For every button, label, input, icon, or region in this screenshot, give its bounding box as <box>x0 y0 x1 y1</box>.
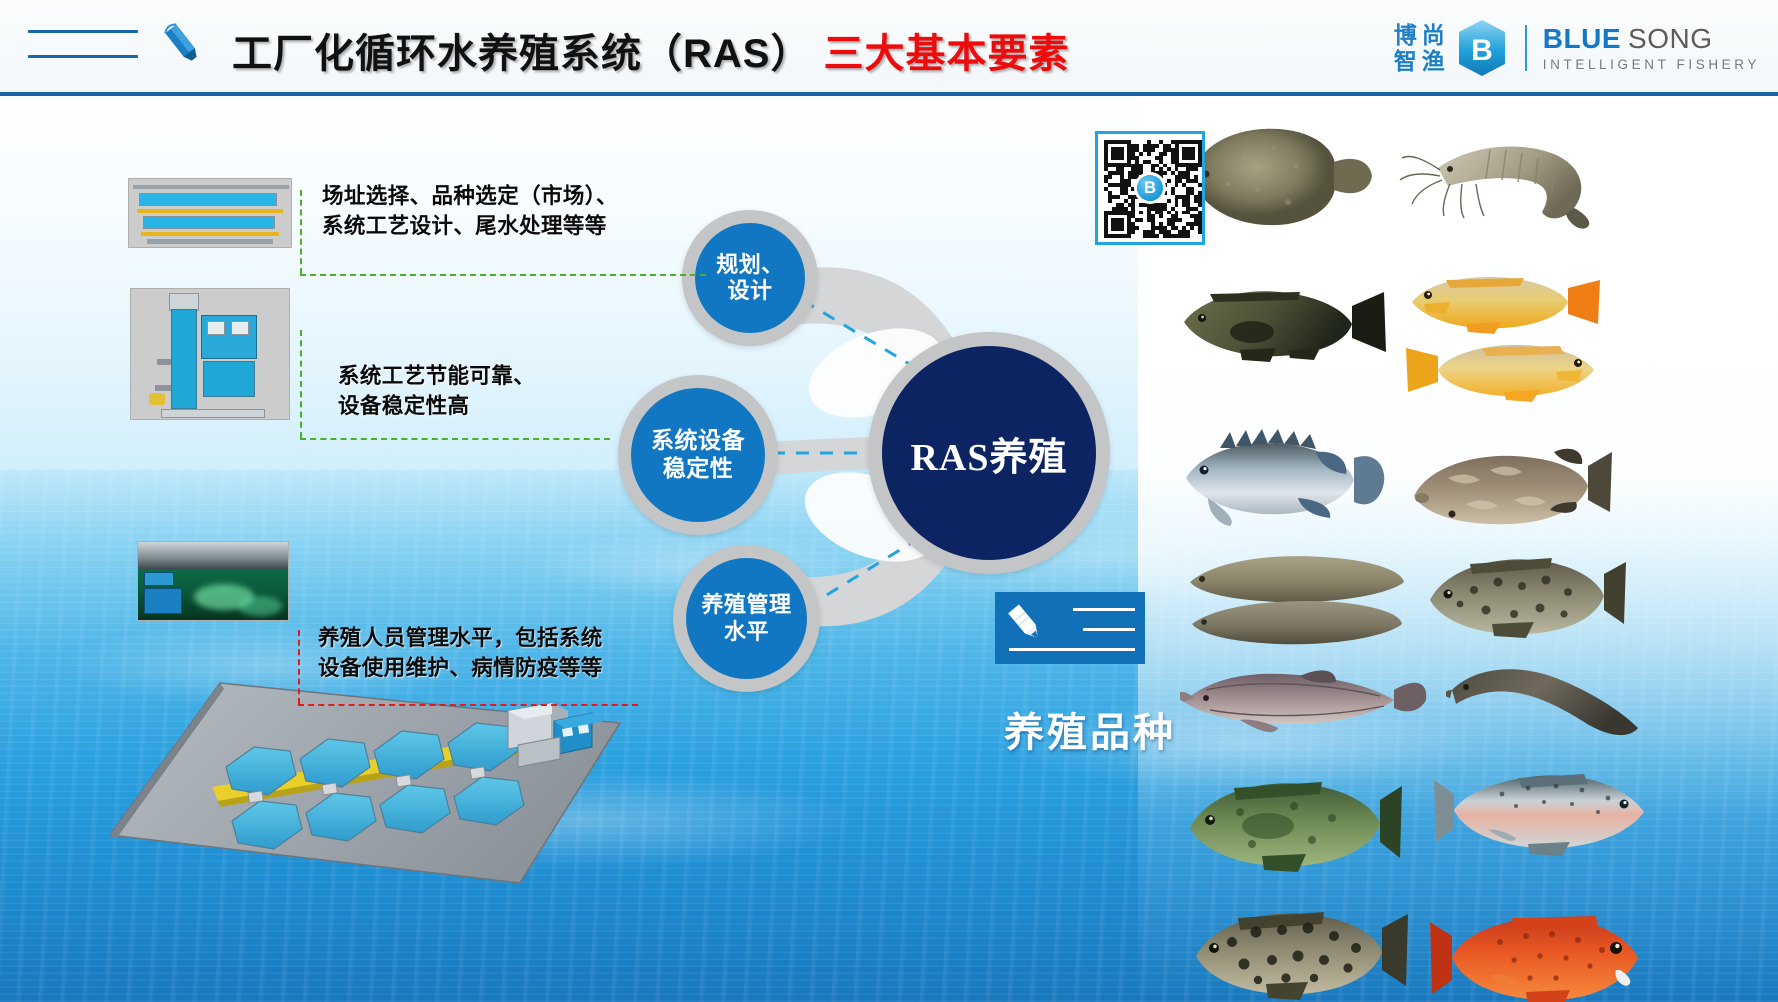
qr-center-logo: B <box>1137 175 1163 201</box>
logo-tagline: INTELLIGENT FISHERY <box>1543 58 1760 72</box>
banner-line-3 <box>1009 648 1135 651</box>
logo-chinese-name: 博 尚 智 渔 <box>1394 23 1445 73</box>
callout-management: 养殖人员管理水平，包括系统 设备使用维护、病情防疫等等 <box>0 0 1778 1002</box>
indoor-culture-tank-photo <box>137 541 289 621</box>
logo-char-3: 渔 <box>1422 49 1445 73</box>
logo-char-1: 尚 <box>1422 23 1445 47</box>
logo-char-2: 智 <box>1394 49 1417 73</box>
qr-code[interactable]: B <box>1095 131 1205 245</box>
callout-text-management: 养殖人员管理水平，包括系统 设备使用维护、病情防疫等等 <box>318 624 603 683</box>
logo-hexagon-b-icon: B <box>1455 19 1509 77</box>
svg-text:B: B <box>1471 34 1493 67</box>
logo-name-secondary: SONG <box>1628 23 1712 54</box>
species-section-title: 养殖品种 <box>960 700 1220 758</box>
page-title-accent: 三大基本要素 <box>823 21 1069 79</box>
logo-name-primary: BLUE <box>1543 23 1621 54</box>
logo-wordmark: BLUESONG INTELLIGENT FISHERY <box>1543 25 1760 72</box>
banner-line-2 <box>1083 628 1135 631</box>
callout-management-line-0: 养殖人员管理水平，包括系统 <box>318 624 603 654</box>
header-bar: 工厂化循环水养殖系统（RAS） 三大基本要素 博 尚 智 渔 B <box>0 0 1778 96</box>
page-title-main: 工厂化循环水养殖系统（RAS） <box>232 21 811 79</box>
slide-canvas: 工厂化循环水养殖系统（RAS） 三大基本要素 博 尚 智 渔 B <box>0 0 1778 1002</box>
pen-icon <box>150 22 216 80</box>
header-rule-lines <box>28 30 138 80</box>
species-banner <box>995 592 1145 664</box>
brand-logo: 博 尚 智 渔 B BLUESONG <box>1394 14 1760 82</box>
page-title: 工厂化循环水养殖系统（RAS） 三大基本要素 <box>232 20 1069 80</box>
logo-divider <box>1525 25 1527 71</box>
logo-char-0: 博 <box>1394 23 1417 47</box>
banner-line-1 <box>1073 608 1135 611</box>
callout-management-line-1: 设备使用维护、病情防疫等等 <box>318 654 603 684</box>
pen-icon <box>1006 602 1048 648</box>
